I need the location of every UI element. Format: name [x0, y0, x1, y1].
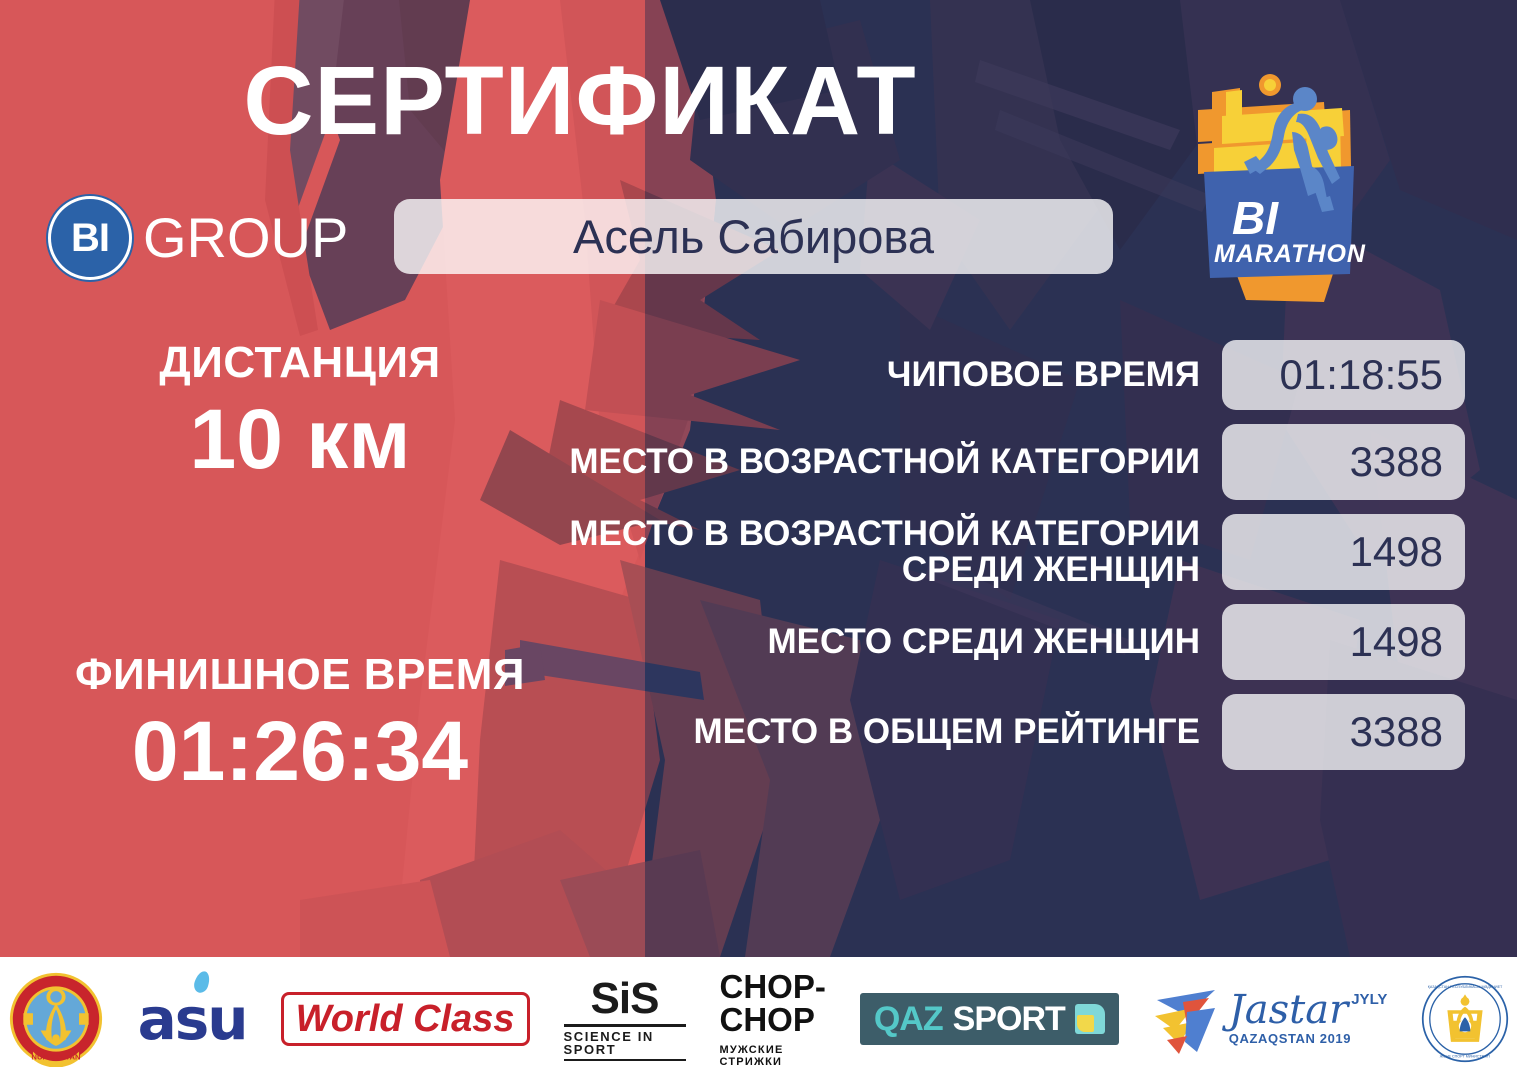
result-row-overall-place: МЕСТО В ОБЩЕМ РЕЙТИНГЕ 3388 — [505, 694, 1465, 770]
result-label: ЧИПОВОЕ ВРЕМЯ — [505, 357, 1222, 393]
sponsor-logo-ministry-of-culture-and-sport: ҚАЗАҚСТАН РЕСПУБЛИКАСЫ МӘДЕНИЕТ ЖӘНЕ СПО… — [1421, 969, 1509, 1069]
sponsor-logo-world-class: World Class — [281, 969, 530, 1069]
result-value-pill: 1498 — [1222, 604, 1465, 680]
results-list: ЧИПОВОЕ ВРЕМЯ 01:18:55 МЕСТО В ВОЗРАСТНО… — [505, 340, 1465, 784]
result-row-age-category-women-place: МЕСТО В ВОЗРАСТНОЙ КАТЕГОРИИ СРЕДИ ЖЕНЩИ… — [505, 514, 1465, 590]
bi-group-wordmark: GROUP — [143, 210, 348, 266]
result-value: 3388 — [1350, 711, 1443, 753]
svg-text:ЖӘНЕ СПОРТ МИНИСТРЛІГІ: ЖӘНЕ СПОРТ МИНИСТРЛІГІ — [1440, 1054, 1491, 1058]
participant-name-value: Асель Сабирова — [573, 213, 934, 260]
result-row-chip-time: ЧИПОВОЕ ВРЕМЯ 01:18:55 — [505, 340, 1465, 410]
participant-name-field: Асель Сабирова — [394, 199, 1113, 274]
sponsor-logo-jastar: Jastar JYLY QAZAQSTAN 2019 — [1153, 969, 1388, 1069]
sponsor-bar: NUR-SULTAN NUR-SULTAN asu World Class Si… — [0, 957, 1517, 1080]
sponsor-logo-asu: asu — [138, 969, 247, 1069]
result-row-women-place: МЕСТО СРЕДИ ЖЕНЩИН 1498 — [505, 604, 1465, 680]
sponsor-name: CHOP-CHOP — [720, 970, 826, 1036]
sponsor-logo-nur-sultan: NUR-SULTAN NUR-SULTAN — [8, 969, 104, 1069]
svg-text:BI: BI — [1232, 192, 1279, 244]
sponsor-name: asu — [138, 990, 247, 1048]
sponsor-tagline: QAZAQSTAN 2019 — [1229, 1031, 1351, 1046]
sponsor-name: World Class — [296, 1000, 515, 1038]
sponsor-logo-chop-chop: CHOP-CHOP МУЖСКИЕ СТРИЖКИ — [720, 969, 826, 1069]
page-title: СЕРТИФИКАТ — [0, 52, 1160, 149]
distance-block: ДИСТАНЦИЯ 10 км — [40, 340, 560, 485]
divider — [564, 1024, 686, 1027]
result-value-pill: 3388 — [1222, 424, 1465, 500]
world-class-frame: World Class — [281, 992, 530, 1046]
result-label: МЕСТО В ВОЗРАСТНОЙ КАТЕГОРИИ СРЕДИ ЖЕНЩИ… — [505, 516, 1222, 589]
jastar-bird-icon — [1153, 982, 1225, 1056]
sponsor-tagline: SCIENCE IN SPORT — [564, 1030, 686, 1056]
bi-marathon-logo: BI MARATHON BI MARATHON — [1174, 62, 1394, 312]
result-value-pill: 1498 — [1222, 514, 1465, 590]
finish-time-value: 01:26:34 — [40, 705, 560, 797]
svg-text:NUR-SULTAN: NUR-SULTAN — [31, 1052, 81, 1061]
result-value: 1498 — [1350, 621, 1443, 663]
qazsport-frame: QAZ SPORT — [860, 993, 1119, 1045]
svg-text:ҚАЗАҚСТАН РЕСПУБЛИКАСЫ МӘДЕНИЕ: ҚАЗАҚСТАН РЕСПУБЛИКАСЫ МӘДЕНИЕТ — [1428, 985, 1503, 989]
sponsor-tagline: МУЖСКИЕ СТРИЖКИ — [720, 1044, 826, 1068]
qazsport-mark-icon — [1075, 1004, 1105, 1034]
finish-time-block: ФИНИШНОЕ ВРЕМЯ 01:26:34 — [40, 652, 560, 797]
sponsor-name-part-a: QAZ — [874, 1002, 943, 1036]
result-label: МЕСТО СРЕДИ ЖЕНЩИН — [505, 624, 1222, 660]
certificate: СЕРТИФИКАТ BI GROUP Асель Сабирова — [0, 0, 1517, 1080]
result-value: 1498 — [1350, 531, 1443, 573]
bi-badge-icon: BI — [48, 196, 132, 280]
sponsor-name: Jastar — [1229, 991, 1348, 1029]
result-row-age-category-place: МЕСТО В ВОЗРАСТНОЙ КАТЕГОРИИ 3388 — [505, 424, 1465, 500]
result-label: МЕСТО В ОБЩЕМ РЕЙТИНГЕ — [505, 714, 1222, 750]
result-value: 3388 — [1350, 441, 1443, 483]
divider — [564, 1059, 686, 1061]
bi-badge-text: BI — [71, 218, 109, 258]
result-value-pill: 3388 — [1222, 694, 1465, 770]
sponsor-logo-qazsport: QAZ SPORT — [860, 969, 1119, 1069]
sponsor-logo-sis: SiS SCIENCE IN SPORT — [564, 969, 686, 1069]
sponsor-name: SiS — [591, 977, 659, 1021]
sponsor-name-part-b: SPORT — [953, 1002, 1065, 1036]
sponsor-badge: JYLY — [1351, 991, 1387, 1008]
jastar-wordmark: Jastar JYLY QAZAQSTAN 2019 — [1229, 991, 1388, 1046]
bi-group-logo: BI GROUP — [48, 196, 348, 280]
distance-value: 10 км — [40, 393, 560, 485]
svg-text:MARATHON: MARATHON — [1214, 240, 1366, 268]
result-value-pill: 01:18:55 — [1222, 340, 1465, 410]
distance-label: ДИСТАНЦИЯ — [40, 340, 560, 387]
finish-time-label: ФИНИШНОЕ ВРЕМЯ — [40, 652, 560, 699]
result-value: 01:18:55 — [1280, 354, 1444, 396]
result-label: МЕСТО В ВОЗРАСТНОЙ КАТЕГОРИИ — [505, 444, 1222, 480]
